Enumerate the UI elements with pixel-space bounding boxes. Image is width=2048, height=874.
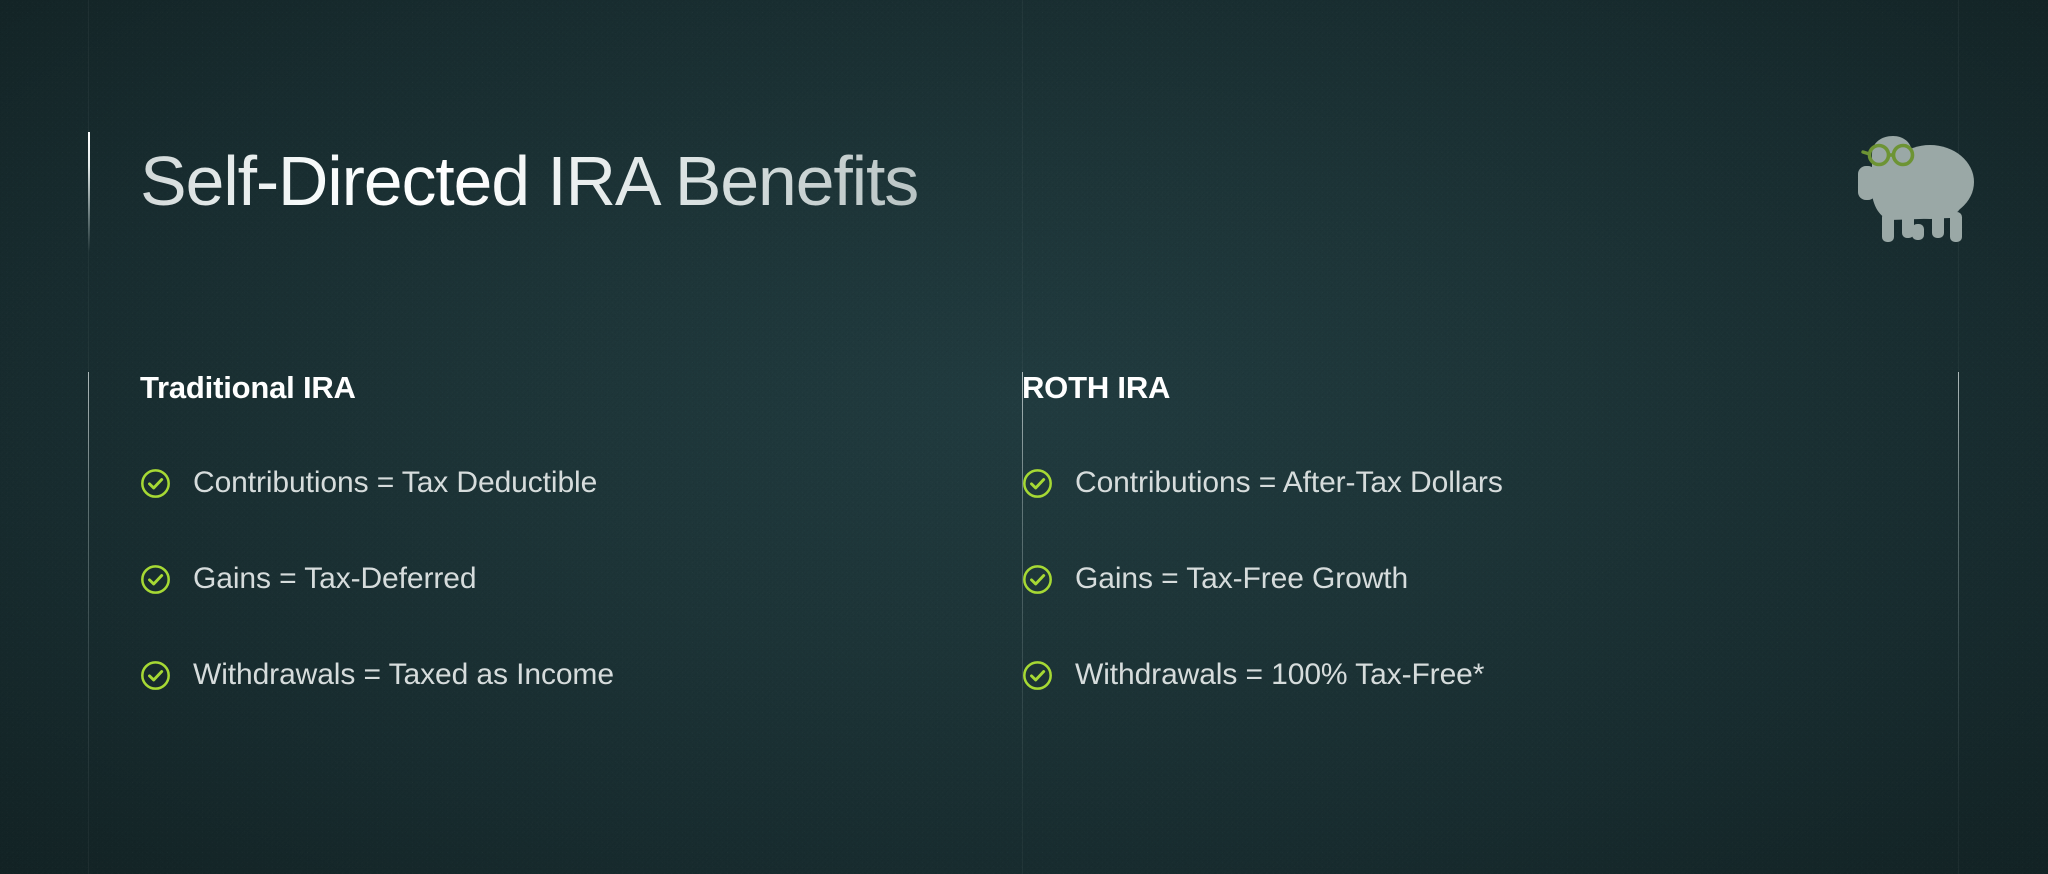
list-item: Withdrawals = Taxed as Income bbox=[140, 653, 934, 697]
slide-canvas: Self-Directed IRA Benefits bbox=[0, 0, 2048, 874]
check-circle-icon bbox=[140, 564, 171, 595]
check-circle-icon bbox=[1022, 564, 1053, 595]
column-heading-roth: ROTH IRA bbox=[1022, 372, 1870, 403]
bullet-list-traditional: Contributions = Tax Deductible Gains = T… bbox=[140, 461, 934, 697]
column-heading-traditional: Traditional IRA bbox=[140, 372, 934, 403]
list-item: Gains = Tax-Free Growth bbox=[1022, 557, 1870, 601]
list-item-label: Withdrawals = Taxed as Income bbox=[193, 660, 614, 690]
check-circle-icon bbox=[140, 468, 171, 499]
page-title: Self-Directed IRA Benefits bbox=[140, 146, 918, 216]
check-circle-icon bbox=[140, 660, 171, 691]
list-item-label: Withdrawals = 100% Tax-Free* bbox=[1075, 660, 1484, 690]
check-circle-icon bbox=[1022, 468, 1053, 499]
column-roth-ira: ROTH IRA Contributions = After-Tax Dolla… bbox=[934, 372, 1870, 697]
list-item-label: Gains = Tax-Free Growth bbox=[1075, 564, 1408, 594]
list-item: Gains = Tax-Deferred bbox=[140, 557, 934, 601]
list-item: Contributions = Tax Deductible bbox=[140, 461, 934, 505]
column-traditional-ira: Traditional IRA Contributions = Tax Dedu… bbox=[0, 372, 934, 697]
list-item: Contributions = After-Tax Dollars bbox=[1022, 461, 1870, 505]
list-item-label: Contributions = After-Tax Dollars bbox=[1075, 468, 1503, 498]
benefits-columns: Traditional IRA Contributions = Tax Dedu… bbox=[0, 372, 2048, 697]
check-circle-icon bbox=[1022, 660, 1053, 691]
title-accent-bar bbox=[88, 132, 90, 252]
list-item-label: Gains = Tax-Deferred bbox=[193, 564, 476, 594]
list-item: Withdrawals = 100% Tax-Free* bbox=[1022, 653, 1870, 697]
sheep-with-glasses-logo bbox=[1846, 132, 1978, 244]
bullet-list-roth: Contributions = After-Tax Dollars Gains … bbox=[1022, 461, 1870, 697]
list-item-label: Contributions = Tax Deductible bbox=[193, 468, 597, 498]
